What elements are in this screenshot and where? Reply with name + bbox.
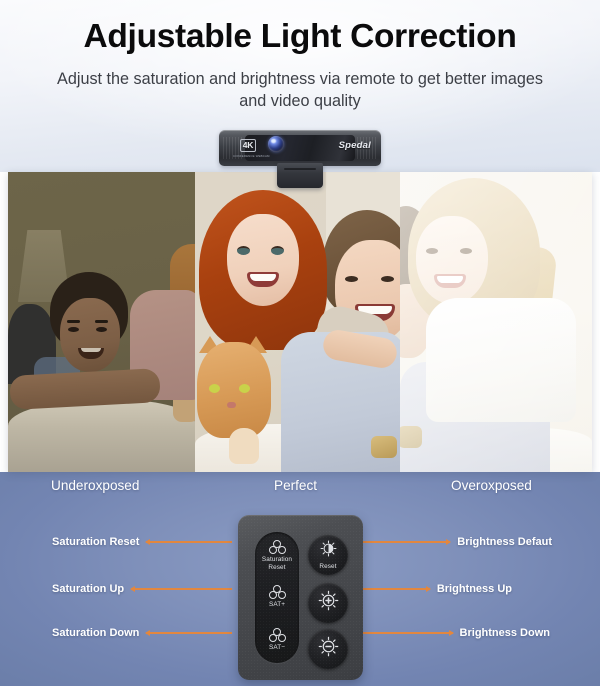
saturation-down-button[interactable]: SAT− <box>255 628 299 652</box>
exposure-label-underexposed: Underoxposed <box>51 478 139 493</box>
leader-line <box>146 541 232 543</box>
saturation-reset-label-line1: Saturation <box>255 556 299 564</box>
remote-control: Saturation Reset SAT+ SAT− <box>238 515 363 680</box>
saturation-up-button[interactable]: SAT+ <box>255 585 299 609</box>
product-feature-page: Adjustable Light Correction Adjust the s… <box>0 0 600 686</box>
leader-line <box>360 541 450 543</box>
page-title: Adjustable Light Correction <box>0 19 600 56</box>
callout-label: Brightness Defaut <box>457 536 552 548</box>
brightness-up-icon <box>318 590 339 616</box>
trefoil-icon <box>268 585 286 600</box>
saturation-down-label: SAT− <box>255 644 299 652</box>
scene-boy-on-bed <box>8 172 195 472</box>
webcam-4k-badge-group: 4K CONFERENCE WEBCAM <box>233 135 263 158</box>
saturation-reset-button[interactable]: Saturation Reset <box>255 540 299 571</box>
leader-line <box>131 588 232 590</box>
exposure-label-perfect: Perfect <box>274 478 317 493</box>
webcam-mount-clip <box>277 163 323 188</box>
exposure-label-overexposed: Overoxposed <box>451 478 532 493</box>
callout-saturation-down: Saturation Down <box>52 625 232 641</box>
callout-label: Brightness Down <box>460 627 550 639</box>
callout-brightness-down: Brightness Down <box>360 625 550 641</box>
brightness-reset-icon <box>320 540 337 562</box>
webcam-body: 4K CONFERENCE WEBCAM Spedal <box>219 130 381 166</box>
callout-brightness-up: Brightness Up <box>360 581 512 597</box>
scene-couple-with-cat <box>195 172 400 472</box>
photo-panel-underexposed <box>8 172 195 472</box>
trefoil-icon <box>268 540 286 555</box>
scene-girl-with-parent <box>400 172 592 472</box>
page-subtitle: Adjust the saturation and brightness via… <box>50 68 550 113</box>
exposure-comparison-strip <box>8 172 592 472</box>
brightness-up-button[interactable] <box>308 583 348 623</box>
saturation-reset-label-line2: Reset <box>255 564 299 572</box>
brand-label: Spedal <box>339 140 371 151</box>
saturation-up-label: SAT+ <box>255 601 299 609</box>
brightness-down-button[interactable] <box>308 629 348 669</box>
saturation-button-strip: Saturation Reset SAT+ SAT− <box>255 532 299 663</box>
callout-saturation-up: Saturation Up <box>52 581 232 597</box>
camera-lens-icon <box>268 136 284 152</box>
leader-line <box>360 588 430 590</box>
resolution-badge-subtext: CONFERENCE WEBCAM <box>233 154 263 158</box>
callout-label: Saturation Reset <box>52 536 139 548</box>
brightness-reset-label: Reset <box>319 563 336 570</box>
resolution-badge: 4K <box>240 139 256 152</box>
photo-panel-overexposed <box>400 172 592 472</box>
trefoil-icon <box>268 628 286 643</box>
leader-line <box>360 632 453 634</box>
photo-panel-perfect <box>195 172 400 472</box>
callout-saturation-reset: Saturation Reset <box>52 534 232 550</box>
webcam-product-image: 4K CONFERENCE WEBCAM Spedal <box>219 130 381 188</box>
brightness-reset-button[interactable]: Reset <box>308 535 348 575</box>
exposure-label-row: Underoxposed Perfect Overoxposed <box>0 478 600 502</box>
callout-label: Saturation Up <box>52 583 124 595</box>
brightness-down-icon <box>318 636 339 662</box>
callout-label: Brightness Up <box>437 583 512 595</box>
callout-label: Saturation Down <box>52 627 139 639</box>
leader-line <box>146 632 232 634</box>
callout-brightness-default: Brightness Defaut <box>360 534 552 550</box>
